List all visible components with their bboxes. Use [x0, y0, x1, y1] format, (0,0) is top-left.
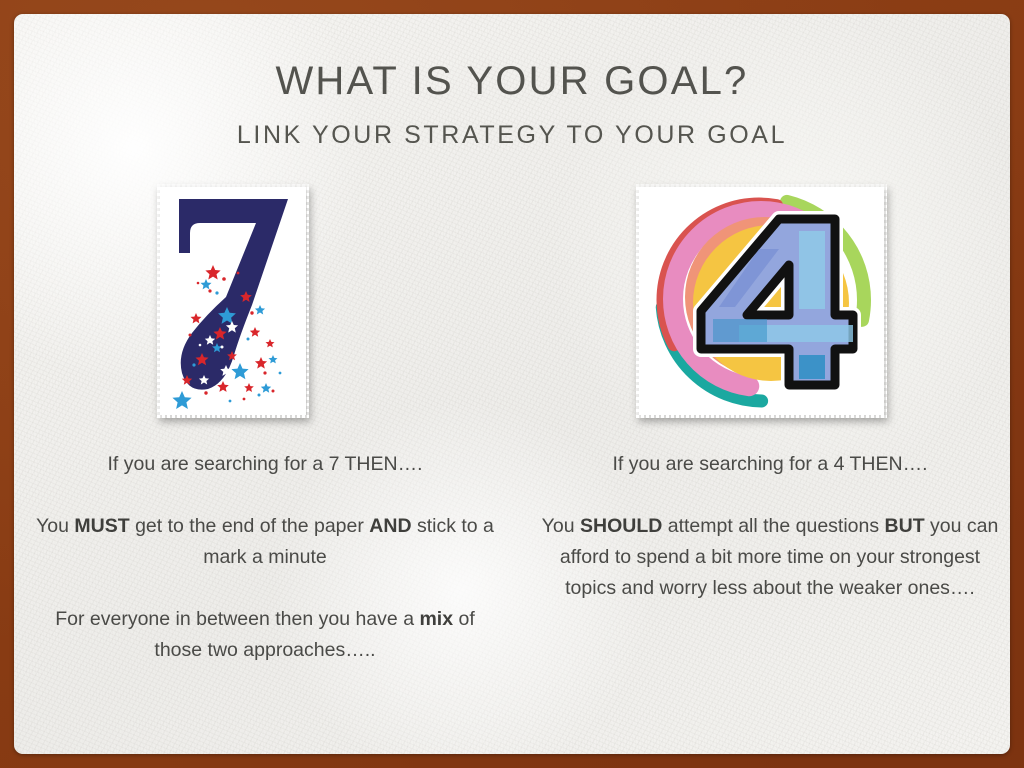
text-column-left: If you are searching for a 7 THEN…. You …	[36, 449, 494, 666]
right-body-1-part-2: attempt all the questions	[662, 515, 884, 537]
image-card-seven	[160, 187, 306, 415]
left-body-1-part-1: You	[36, 515, 74, 537]
image-card-four	[639, 187, 884, 415]
left-lead-text: If you are searching for a 7 THEN….	[36, 449, 494, 480]
left-body-1-bold-2: AND	[369, 515, 411, 537]
seven-illustration	[160, 187, 306, 415]
right-body-1-bold-1: SHOULD	[580, 515, 662, 537]
right-body-1-bold-2: BUT	[885, 515, 925, 537]
page-subtitle: LINK YOUR STRATEGY TO YOUR GOAL	[14, 122, 1010, 148]
four-svg	[639, 187, 884, 415]
right-body-1-part-1: You	[542, 515, 580, 537]
four-illustration	[639, 187, 884, 415]
seven-svg	[160, 187, 306, 415]
left-body-2-part-1: For everyone in between then you have a	[55, 608, 419, 630]
right-lead-text: If you are searching for a 4 THEN….	[541, 449, 999, 480]
left-body-2: For everyone in between then you have a …	[36, 604, 494, 666]
left-body-1-bold-1: MUST	[74, 515, 129, 537]
left-body-1: You MUST get to the end of the paper AND…	[36, 511, 494, 573]
text-column-right: If you are searching for a 4 THEN…. You …	[541, 449, 999, 604]
page-title: WHAT IS YOUR GOAL?	[14, 60, 1010, 102]
left-body-2-bold-1: mix	[419, 608, 453, 630]
right-body-1: You SHOULD attempt all the questions BUT…	[541, 511, 999, 604]
left-body-1-part-2: get to the end of the paper	[130, 515, 370, 537]
slide-card: WHAT IS YOUR GOAL? LINK YOUR STRATEGY TO…	[14, 14, 1010, 754]
